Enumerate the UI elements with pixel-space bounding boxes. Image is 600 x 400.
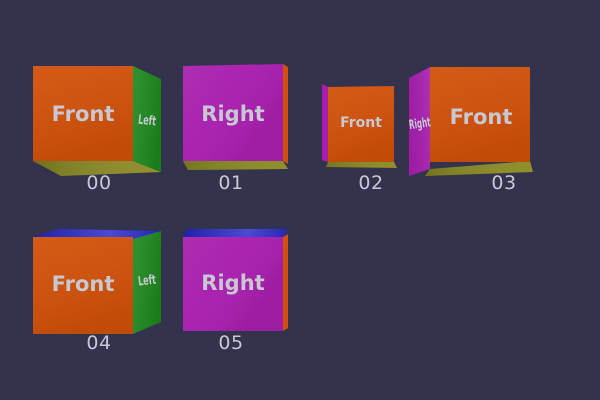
cube-05-front-face-sliver [283,234,288,331]
cube-05: Right [178,218,298,348]
cube-02-geometry: Front [318,78,408,178]
cube-01-geometry: Right [178,58,298,188]
cube-05-top-face-shade [183,229,288,237]
cube-01-front-label: Right [201,102,264,126]
cube-index-label-00: 00 [77,172,121,194]
cube-grid-canvas: Front Left [0,0,600,400]
cube-03-side-label: Right [408,115,431,133]
cube-01-bottom-face-shade [183,161,288,170]
cube-04-front-label: Front [52,272,115,296]
cube-05-front-label: Right [201,271,264,295]
cube-index-label-04: 04 [77,332,121,354]
cube-02-front-label: Front [340,115,382,131]
cube-index-label-03: 03 [482,172,526,194]
cube-02-bottom-face-shade [326,162,397,168]
cube-00-front-label: Front [52,102,115,126]
cube-00: Front Left [28,58,168,188]
cube-02: Front [318,78,408,178]
cube-index-label-01: 01 [209,172,253,194]
cube-03-geometry: Front Right [405,58,550,188]
cube-04-geometry: Front Left [28,218,168,348]
cube-00-side-label: Left [137,112,156,129]
cube-04: Front Left [28,218,168,348]
cube-03: Front Right [405,58,550,188]
cube-04-side-label: Left [137,272,157,290]
cube-index-label-05: 05 [209,332,253,354]
cube-00-geometry: Front Left [28,58,168,188]
cube-01-front-face-sliver [283,64,288,164]
cube-03-front-label: Front [450,105,513,129]
cube-01: Right [178,58,298,188]
cube-05-geometry: Right [178,218,298,348]
cube-index-label-02: 02 [349,172,393,194]
cube-02-right-face-sliver [322,84,328,162]
